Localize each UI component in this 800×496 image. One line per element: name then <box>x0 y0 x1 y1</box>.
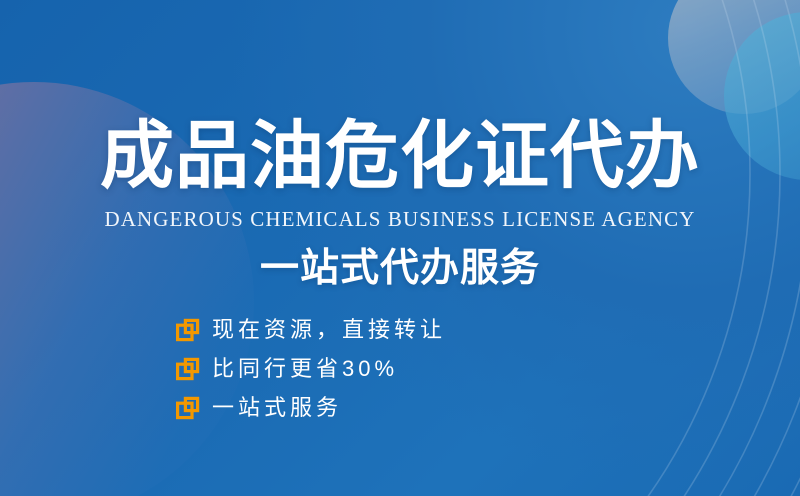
banner-content: 成品油危化证代办 DANGEROUS CHEMICALS BUSINESS LI… <box>0 0 800 496</box>
overlapping-squares-icon <box>176 318 200 342</box>
subtitle-english: DANGEROUS CHEMICALS BUSINESS LICENSE AGE… <box>0 207 800 231</box>
feature-label: 比同行更省30% <box>212 357 398 381</box>
list-item: 一站式服务 <box>176 396 446 420</box>
list-item: 比同行更省30% <box>176 357 446 381</box>
feature-label: 一站式服务 <box>212 396 342 420</box>
page-title: 成品油危化证代办 <box>0 116 800 196</box>
feature-list: 现在资源，直接转让 比同行更省30% 一站式 <box>176 318 446 420</box>
list-item: 现在资源，直接转让 <box>176 318 446 342</box>
feature-label: 现在资源，直接转让 <box>212 318 446 342</box>
overlapping-squares-icon <box>176 357 200 381</box>
promo-banner: 成品油危化证代办 DANGEROUS CHEMICALS BUSINESS LI… <box>0 0 800 496</box>
overlapping-squares-icon <box>176 396 200 420</box>
subtitle-chinese: 一站式代办服务 <box>0 246 800 292</box>
